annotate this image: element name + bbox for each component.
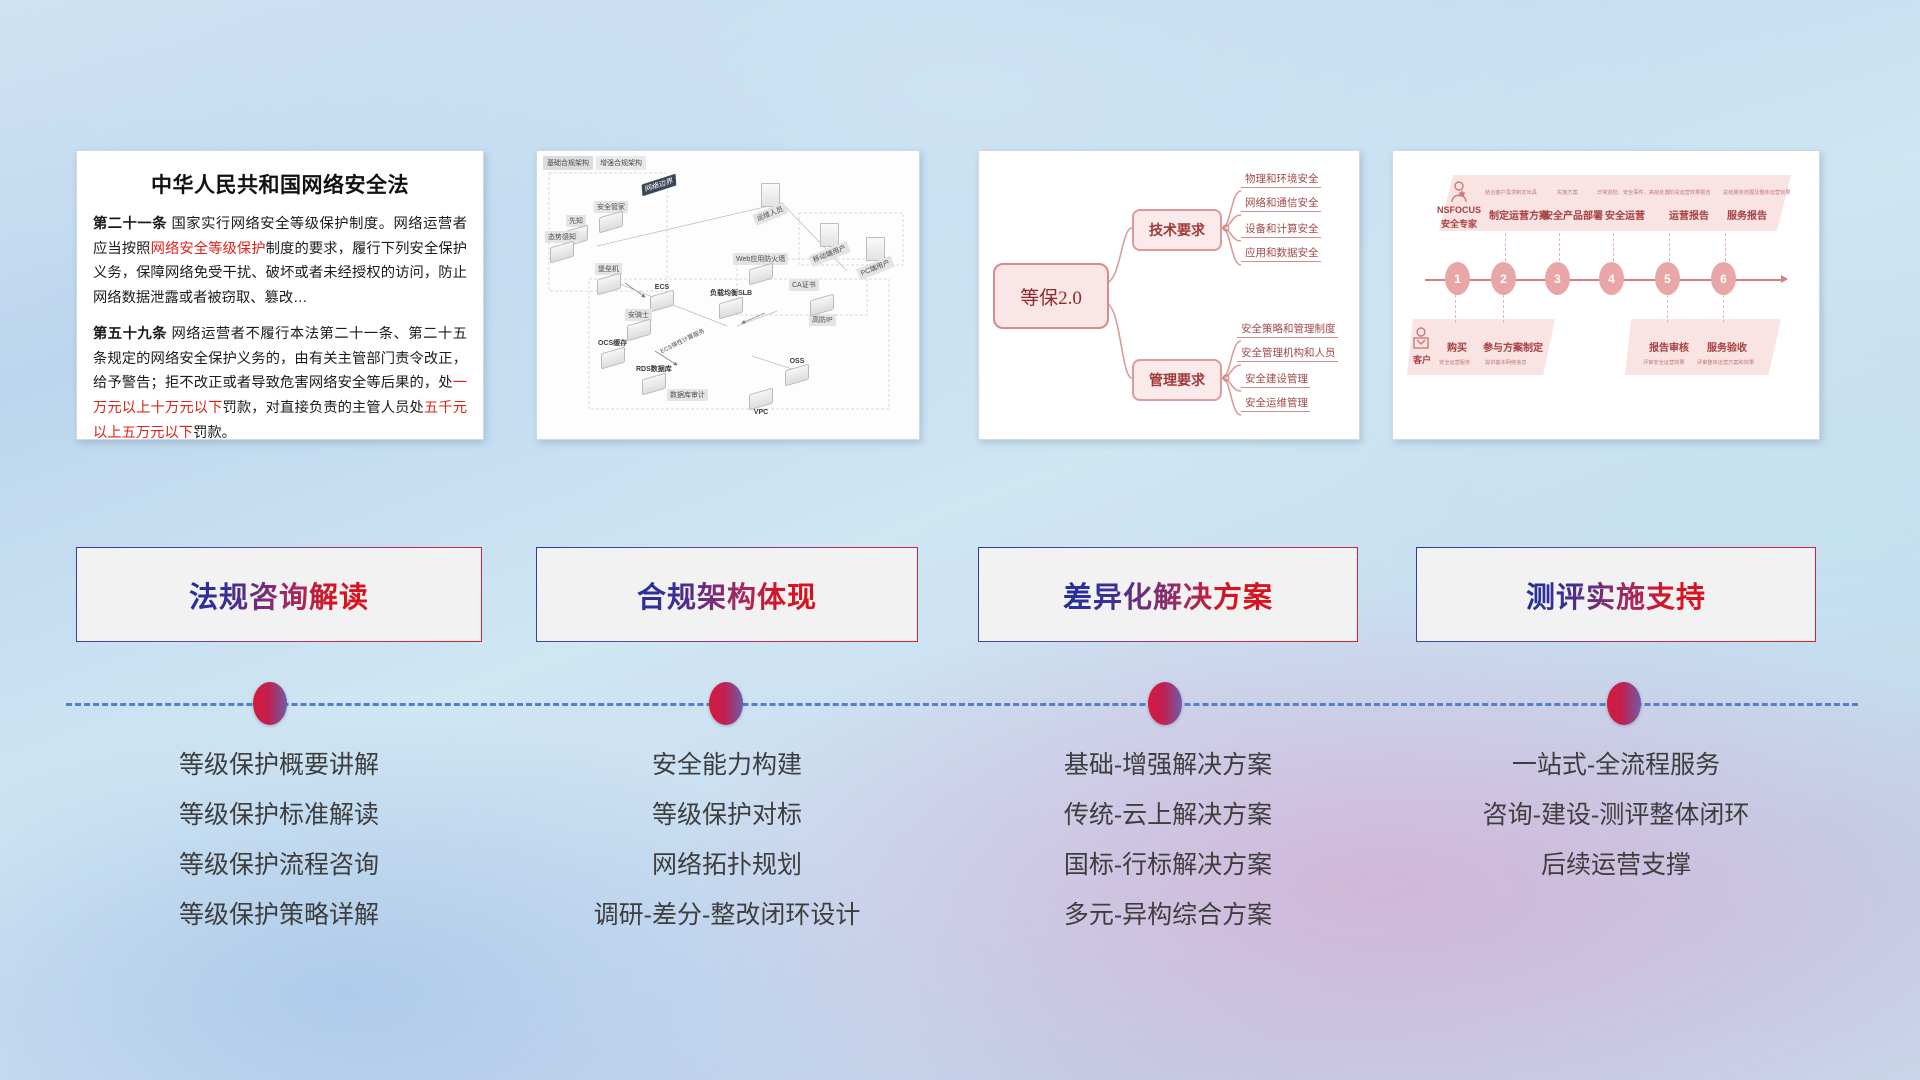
timeline-node-2[interactable] — [709, 682, 743, 725]
timeline-tick — [1613, 233, 1615, 261]
category-card-title: 法规咨询解读 — [189, 574, 369, 616]
timeline-actor-customer: 客户 — [1413, 353, 1431, 366]
list-item: 多元-异构综合方案 — [978, 890, 1358, 940]
cloud-architecture-diagram: 基础合规架构 增强合规架构 — [537, 151, 919, 439]
architecture-node-anti-ddos-ip: 高防IP — [809, 297, 836, 326]
architecture-node-mobile-user: 移动端用户 — [809, 223, 850, 260]
architecture-node-pc-user: PC端用户 — [857, 237, 894, 274]
timeline-tick — [1559, 233, 1561, 261]
timeline-top-sub: 实施方案 — [1557, 189, 1578, 196]
timeline-step-dot: 2 — [1491, 262, 1516, 295]
timeline-tick — [1669, 233, 1671, 261]
timeline-tick — [1503, 295, 1505, 323]
timeline-top-sub: 日常巡检、安全事件、高级处置 — [1597, 189, 1670, 196]
detail-list-architecture: 安全能力构建 等级保护对标 网络拓扑规划 调研-差分-整改闭环设计 — [536, 740, 918, 940]
timeline-bottom-name: 购买 — [1447, 339, 1467, 354]
timeline-top-name: 安全运营 — [1605, 207, 1645, 222]
thumbnail-law-document[interactable]: 中华人民共和国网络安全法 第二十一条 国家实行网络安全等级保护制度。网络运营者应… — [76, 150, 484, 440]
thumbnail-cloud-architecture[interactable]: 基础合规架构 增强合规架构 — [536, 150, 920, 440]
architecture-badge-boundary: 网络边界 — [642, 179, 676, 191]
law-article-59-number: 第五十九条 — [93, 326, 167, 342]
detail-list-assessment: 一站式-全流程服务 咨询-建设-测评整体闭环 后续运营支撑 — [1416, 740, 1816, 890]
list-item: 国标-行标解决方案 — [978, 840, 1358, 890]
list-item: 传统-云上解决方案 — [978, 790, 1358, 840]
timeline-tick — [1505, 233, 1507, 261]
timeline-actor-expert-line1: NSFOCUS — [1437, 205, 1481, 215]
architecture-node-ops-personnel: 运维人员 — [753, 183, 787, 220]
architecture-node-database-audit: 数据库审计 — [667, 389, 708, 401]
mindmap-leaf: 物理和环境安全 — [1241, 173, 1321, 188]
timeline-bottom-sub: 提供基本网络信息 — [1485, 359, 1527, 366]
thumbnail-nsfocus-timeline[interactable]: NSFOCUS 安全专家 客户 结合客户需求制定出具 制定运营方案 实施方案 安… — [1392, 150, 1820, 440]
architecture-node-bastion-host: 堡垒机 — [595, 263, 622, 292]
thumbnail-row: 中华人民共和国网络安全法 第二十一条 国家实行网络安全等级保护制度。网络运营者应… — [0, 150, 1920, 440]
mindmap-leaf: 安全管理机构和人员 — [1237, 347, 1338, 362]
architecture-node-ecs: ECS — [650, 283, 674, 309]
law-article-21: 第二十一条 国家实行网络安全等级保护制度。网络运营者应当按照网络安全等级保护制度… — [93, 212, 467, 310]
mindmap-leaf: 安全建设管理 — [1241, 373, 1310, 388]
timeline-tick — [1725, 233, 1727, 261]
thumbnail-mindmap[interactable]: 等保2.0 技术要求 管理要求 物理和环境安全 网络和通信安全 设备和计算安全 … — [978, 150, 1360, 440]
category-card-row: 法规咨询解读 合规架构体现 差异化解决方案 测评实施支持 — [0, 547, 1920, 644]
architecture-node-ca-certificate: CA证书 — [789, 279, 819, 291]
list-item: 等级保护策略详解 — [76, 890, 482, 940]
mindmap-leaf: 安全运维管理 — [1241, 397, 1310, 412]
architecture-node-anqishi: 安骑士 — [625, 309, 652, 338]
mindmap-leaf: 设备和计算安全 — [1241, 223, 1321, 238]
category-card-regulation[interactable]: 法规咨询解读 — [76, 547, 482, 642]
timeline-node-3[interactable] — [1148, 682, 1182, 725]
architecture-zone-label-ecs: ECS弹性计算服务 — [655, 335, 709, 346]
nsfocus-timeline-diagram: NSFOCUS 安全专家 客户 结合客户需求制定出具 制定运营方案 实施方案 安… — [1393, 151, 1819, 439]
timeline-top-name: 服务报告 — [1727, 207, 1767, 222]
architecture-node-ocs-cache: OCS缓存 — [595, 337, 630, 366]
timeline-tick — [1723, 295, 1725, 323]
timeline-top-name: 安全产品部署 — [1543, 207, 1603, 222]
list-item: 基础-增强解决方案 — [978, 740, 1358, 790]
law-article-59-text-b: 罚款，对直接负责的主管人员处 — [223, 400, 424, 416]
category-card-assessment[interactable]: 测评实施支持 — [1416, 547, 1816, 642]
list-item: 等级保护概要讲解 — [76, 740, 482, 790]
law-title: 中华人民共和国网络安全法 — [93, 169, 467, 199]
category-card-solution[interactable]: 差异化解决方案 — [978, 547, 1358, 642]
architecture-node-slb: 负载均衡SLB — [707, 287, 755, 316]
list-item: 等级保护流程咨询 — [76, 840, 482, 890]
law-article-59: 第五十九条 网络运营者不履行本法第二十一条、第二十五条规定的网络安全保护义务的，… — [93, 322, 467, 440]
timeline-tick — [1455, 295, 1457, 323]
mindmap-branch-management: 管理要求 — [1132, 359, 1222, 401]
timeline-top-name: 制定运营方案 — [1489, 207, 1549, 222]
architecture-node-oss: OSS — [785, 357, 809, 383]
timeline-dashed-line — [66, 703, 1858, 706]
timeline-node-4[interactable] — [1607, 682, 1641, 725]
timeline-bottom-name: 参与方案制定 — [1483, 339, 1543, 354]
category-card-title: 测评实施支持 — [1526, 574, 1706, 616]
architecture-node-vpc: VPC — [749, 391, 773, 417]
timeline-bottom-sub: 评审安全运营效果 — [1643, 359, 1685, 366]
customer-icon — [1411, 327, 1431, 351]
timeline-tick — [1667, 295, 1669, 323]
list-item: 等级保护对标 — [536, 790, 918, 840]
mindmap-diagram: 等保2.0 技术要求 管理要求 物理和环境安全 网络和通信安全 设备和计算安全 … — [979, 151, 1359, 439]
list-item: 一站式-全流程服务 — [1416, 740, 1816, 790]
page-root: 中华人民共和国网络安全法 第二十一条 国家实行网络安全等级保护制度。网络运营者应… — [0, 0, 1920, 1080]
timeline-actor-expert-line2: 安全专家 — [1441, 217, 1477, 230]
list-item: 调研-差分-整改闭环设计 — [536, 890, 918, 940]
list-item: 网络拓扑规划 — [536, 840, 918, 890]
category-card-title: 差异化解决方案 — [1063, 574, 1273, 616]
list-item: 等级保护标准解读 — [76, 790, 482, 840]
timeline-node-1[interactable] — [253, 682, 287, 725]
timeline-band-top — [1439, 175, 1791, 231]
timeline-bottom-name: 服务验收 — [1707, 339, 1747, 354]
mindmap-leaf: 网络和通信安全 — [1241, 197, 1321, 212]
law-article-21-number: 第二十一条 — [93, 216, 167, 232]
timeline-bottom-sub: 安全运营服务 — [1439, 359, 1470, 366]
timeline-connector — [0, 672, 1920, 736]
list-item: 安全能力构建 — [536, 740, 918, 790]
timeline-step-dot: 5 — [1655, 262, 1680, 295]
timeline-top-sub: 总结服务范围及整体运营效果 — [1723, 189, 1790, 196]
timeline-bottom-sub: 评审整体运营方案和效果 — [1697, 359, 1754, 366]
timeline-top-sub: 阶段运营效果报告 — [1669, 189, 1711, 196]
law-article-59-text-c: 罚款。 — [193, 425, 236, 440]
timeline-bottom-name: 报告审核 — [1649, 339, 1689, 354]
list-item: 后续运营支撑 — [1416, 840, 1816, 890]
architecture-node-waf: Web应用防火墙 — [733, 253, 788, 282]
mindmap-leaf: 安全策略和管理制度 — [1237, 323, 1338, 338]
architecture-node-rds-database: RDS数据库 — [633, 363, 675, 392]
timeline-step-dot: 6 — [1711, 262, 1736, 295]
timeline-step-dot: 3 — [1545, 262, 1570, 295]
timeline-top-sub: 结合客户需求制定出具 — [1485, 189, 1537, 196]
list-item: 咨询-建设-测评整体闭环 — [1416, 790, 1816, 840]
timeline-arrow-icon — [1781, 275, 1788, 283]
category-card-architecture[interactable]: 合规架构体现 — [536, 547, 918, 642]
architecture-node-security-butler: 安全管家 — [594, 201, 628, 230]
mindmap-branch-technical: 技术要求 — [1132, 209, 1222, 251]
detail-list-solution: 基础-增强解决方案 传统-云上解决方案 国标-行标解决方案 多元-异构综合方案 — [978, 740, 1358, 940]
security-expert-icon — [1449, 181, 1469, 203]
timeline-step-dot: 4 — [1599, 262, 1624, 295]
mindmap-leaf: 应用和数据安全 — [1241, 247, 1321, 262]
law-article-21-highlight: 网络安全等级保护 — [151, 241, 266, 257]
law-document: 中华人民共和国网络安全法 第二十一条 国家实行网络安全等级保护制度。网络运营者应… — [77, 151, 483, 439]
timeline-step-dot: 1 — [1445, 262, 1470, 295]
mindmap-root-node: 等保2.0 — [993, 263, 1109, 329]
detail-list-regulation: 等级保护概要讲解 等级保护标准解读 等级保护流程咨询 等级保护策略详解 — [76, 740, 482, 940]
architecture-node-situational-awareness: 态势感知 — [545, 231, 579, 260]
timeline-top-name: 运营报告 — [1669, 207, 1709, 222]
category-card-title: 合规架构体现 — [637, 574, 817, 616]
